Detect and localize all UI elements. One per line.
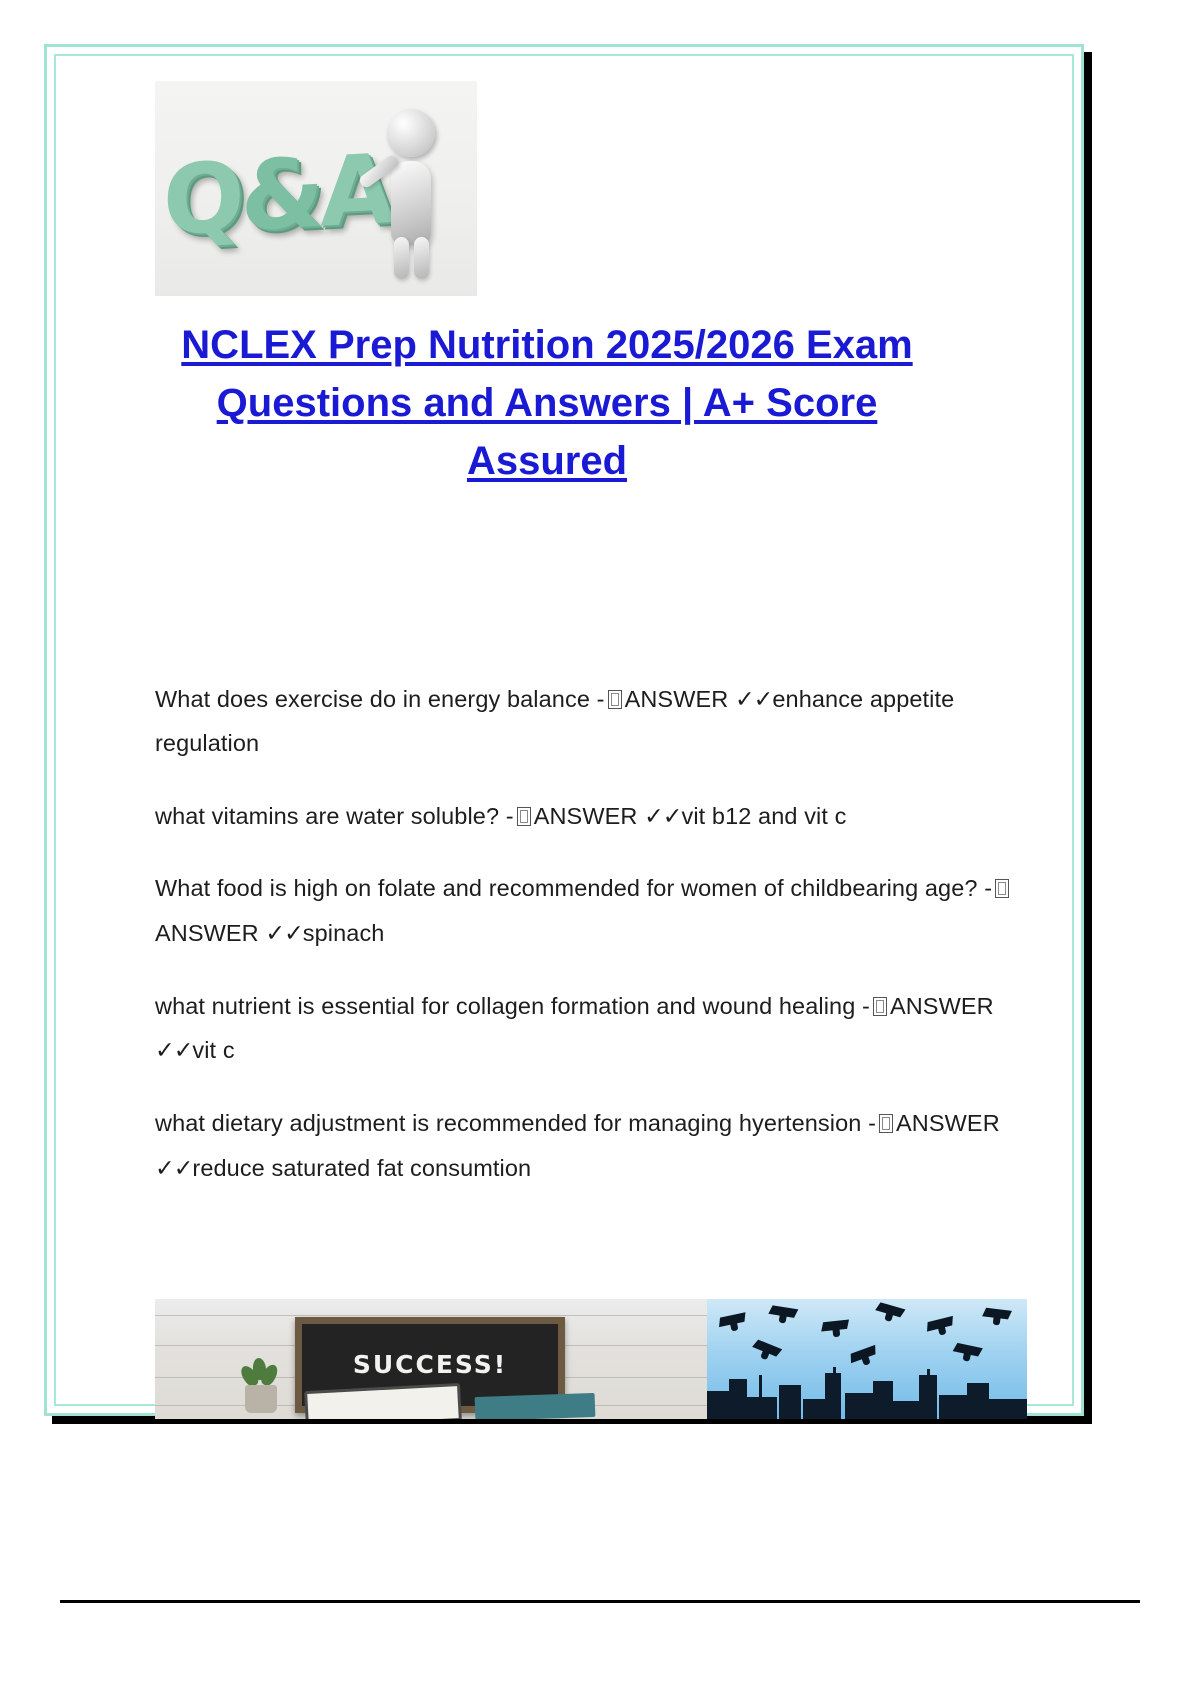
qa-answer: vit b12 and vit c [681, 803, 846, 829]
check-marks-icon: ✓✓ [265, 919, 302, 947]
page-bottom-rule [60, 1600, 1140, 1603]
title-line-3: Assured [127, 432, 967, 490]
qa-logo-q: Q [163, 141, 241, 257]
figure-body [391, 161, 431, 245]
figure-leg-left [394, 237, 409, 279]
qa-answer-label: ANSWER [890, 993, 994, 1019]
qa-separator: - [506, 803, 514, 829]
qa-item: what dietary adjustment is recommended f… [155, 1101, 1027, 1190]
plant-icon [239, 1355, 281, 1413]
qa-answer: spinach [303, 920, 385, 946]
qa-body: What does exercise do in energy balance … [155, 653, 1027, 1218]
qa-separator: - [984, 875, 992, 901]
missing-glyph-icon [873, 997, 887, 1016]
page-content: Q&A NCLEX Prep Nutrition 2025/2026 Exam … [67, 61, 1019, 1391]
qa-answer: reduce saturated fat consumtion [192, 1155, 531, 1181]
qa-item: What food is high on folate and recommen… [155, 866, 1027, 955]
city-skyline [707, 1367, 1027, 1419]
qa-question: What does exercise do in energy balance [155, 686, 590, 712]
qa-logo-figure-icon [365, 105, 451, 273]
qa-question: what dietary adjustment is recommended f… [155, 1110, 861, 1136]
qa-item: What does exercise do in energy balance … [155, 677, 1027, 766]
qa-question: what vitamins are water soluble? [155, 803, 499, 829]
missing-glyph-icon [995, 879, 1009, 898]
qa-answer: vit c [192, 1037, 234, 1063]
graduation-caps-image [707, 1299, 1027, 1419]
qa-question: what nutrient is essential for collagen … [155, 993, 855, 1019]
qa-answer-label: ANSWER [534, 803, 638, 829]
page-title: NCLEX Prep Nutrition 2025/2026 Exam Ques… [127, 316, 967, 490]
figure-head [387, 109, 435, 157]
check-marks-icon: ✓✓ [155, 1154, 192, 1182]
graduation-cap-icon [719, 1313, 750, 1344]
bottom-image-strip: SUCCESS! [155, 1299, 1027, 1419]
qa-logo-lettering: Q&A [163, 133, 391, 257]
check-marks-icon: ✓✓ [644, 802, 681, 830]
qa-answer-label: ANSWER [155, 920, 259, 946]
qa-question: What food is high on folate and recommen… [155, 875, 978, 901]
graduation-cap-icon [767, 1305, 797, 1335]
qa-item: what nutrient is essential for collagen … [155, 984, 1027, 1073]
qa-separator: - [862, 993, 870, 1019]
graduation-cap-icon [982, 1308, 1011, 1337]
graduation-cap-icon [822, 1320, 851, 1349]
qa-separator: - [868, 1110, 876, 1136]
success-chalkboard-image: SUCCESS! [155, 1299, 707, 1419]
qa-item: what vitamins are water soluble? -ANSWER… [155, 794, 1027, 839]
missing-glyph-icon [608, 690, 622, 709]
check-marks-icon: ✓✓ [155, 1036, 192, 1064]
title-line-2: Questions and Answers | A+ Score [127, 374, 967, 432]
graduation-cap-icon [926, 1316, 958, 1348]
qa-answer-label: ANSWER [896, 1110, 1000, 1136]
qa-answer-label: ANSWER [625, 686, 729, 712]
chalkboard-text: SUCCESS! [302, 1350, 558, 1379]
qa-logo-ampersand: & [241, 137, 321, 253]
qa-logo-image: Q&A [155, 81, 477, 296]
check-marks-icon: ✓✓ [735, 685, 772, 713]
notebook [475, 1393, 596, 1419]
qa-separator: - [597, 686, 605, 712]
title-line-1: NCLEX Prep Nutrition 2025/2026 Exam [127, 316, 967, 374]
missing-glyph-icon [879, 1114, 893, 1133]
graduation-cap-icon [872, 1302, 904, 1334]
missing-glyph-icon [517, 807, 531, 826]
figure-leg-right [414, 237, 429, 279]
document-page-frame: Q&A NCLEX Prep Nutrition 2025/2026 Exam … [44, 44, 1084, 1416]
